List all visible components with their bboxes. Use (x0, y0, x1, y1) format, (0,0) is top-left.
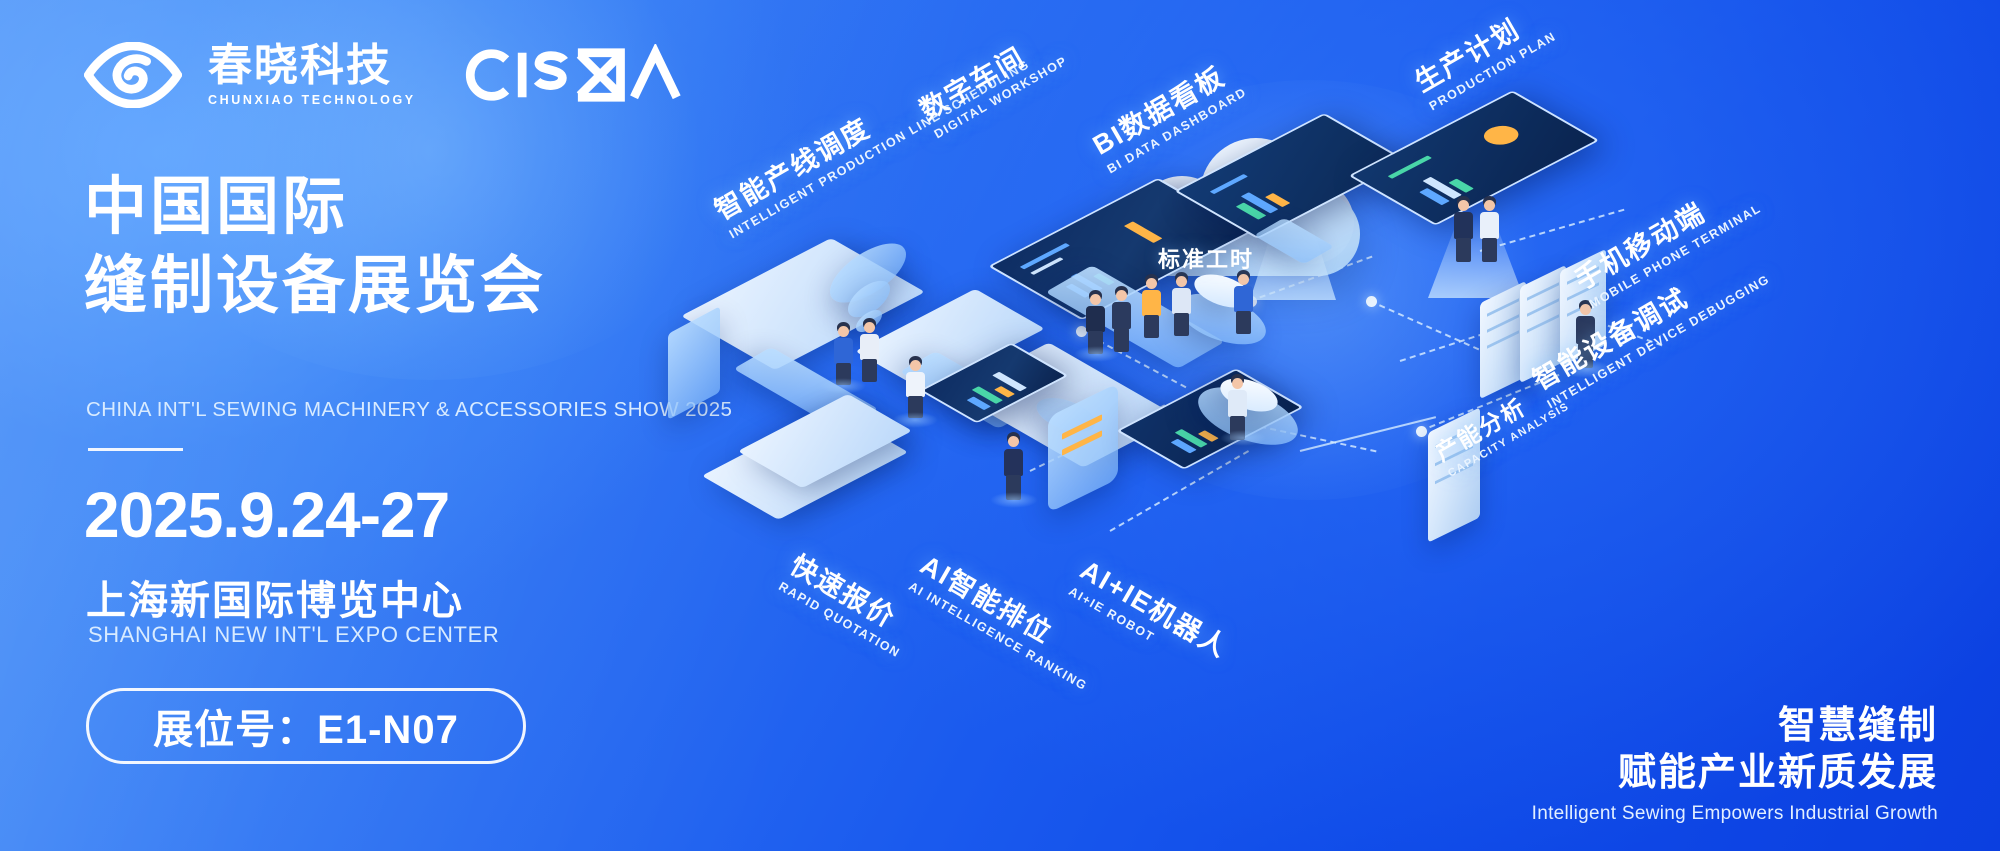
person-figure (1474, 196, 1504, 264)
slogan-block: 智慧缝制 赋能产业新质发展 Intelligent Sewing Empower… (1532, 703, 1938, 825)
page-title: 中国国际 缝制设备展览会 (84, 168, 546, 327)
person-figure (1166, 272, 1196, 338)
venue-name-en: SHANGHAI NEW INT'L EXPO CENTER (88, 622, 499, 648)
event-dates: 2025.9.24-27 (84, 478, 449, 552)
donut-chart (1477, 122, 1526, 149)
feature-label-production-plan: 生产计划 PRODUCTION PLAN (1406, 0, 1558, 113)
company-name-block: 春晓科技 CHUNXIAO TECHNOLOGY (208, 43, 416, 107)
divider-rule (88, 448, 183, 451)
title-english: CHINA INT'L SEWING MACHINERY & ACCESSORI… (86, 398, 732, 422)
person-figure (1106, 286, 1136, 354)
person-figure (1136, 274, 1166, 340)
figure-shadow (820, 378, 866, 394)
person-figure (854, 318, 884, 384)
slogan-line-3: Intelligent Sewing Empowers Industrial G… (1532, 803, 1938, 825)
connector-node (1366, 296, 1377, 307)
booth-number-badge: 展位号：E1-N07 (86, 688, 526, 764)
chart-bar (1388, 155, 1432, 178)
title-line-2: 缝制设备展览会 (84, 247, 546, 326)
figure-shadow (990, 492, 1038, 508)
promo-banner: 春晓科技 CHUNXIAO TECHNOLOGY 中国国际 缝制设备展览会 CH… (0, 0, 2000, 851)
feature-label-rapid-quotation: 快速报价 RAPID QUOTATION (776, 544, 923, 661)
eye-swirl-logo-icon (84, 42, 182, 108)
standard-hours-label: 标准工时 (1158, 242, 1254, 274)
slogan-line-2: 赋能产业新质发展 (1532, 750, 1938, 796)
venue-name-cn: 上海新国际博览中心 (86, 568, 464, 626)
person-figure (900, 356, 930, 420)
title-line-1: 中国国际 (84, 168, 546, 247)
company-name-en: CHUNXIAO TECHNOLOGY (208, 93, 416, 107)
chart-bar (994, 386, 1015, 398)
connector-node (1416, 426, 1427, 437)
connector-line (1300, 416, 1436, 452)
person-figure (1228, 270, 1258, 336)
slogan-line-1: 智慧缝制 (1532, 703, 1938, 749)
brand-logo-row: 春晓科技 CHUNXIAO TECHNOLOGY (84, 42, 717, 108)
figure-shadow (892, 412, 938, 428)
booth-number-label: 展位号：E1-N07 (153, 697, 459, 755)
figure-shadow (1074, 346, 1120, 362)
chart-bar (1124, 221, 1163, 243)
cisma-logo-icon (462, 44, 717, 106)
info-panel: 春晓科技 CHUNXIAO TECHNOLOGY 中国国际 缝制设备展览会 CH… (0, 0, 780, 851)
chart-bar (1210, 174, 1248, 194)
feature-label-ai-intelligence-ranking: AI智能排位 AI INTELLIGENCE RANKING (906, 544, 1110, 694)
company-name-cn: 春晓科技 (208, 43, 416, 89)
figure-shadow (1220, 430, 1266, 446)
